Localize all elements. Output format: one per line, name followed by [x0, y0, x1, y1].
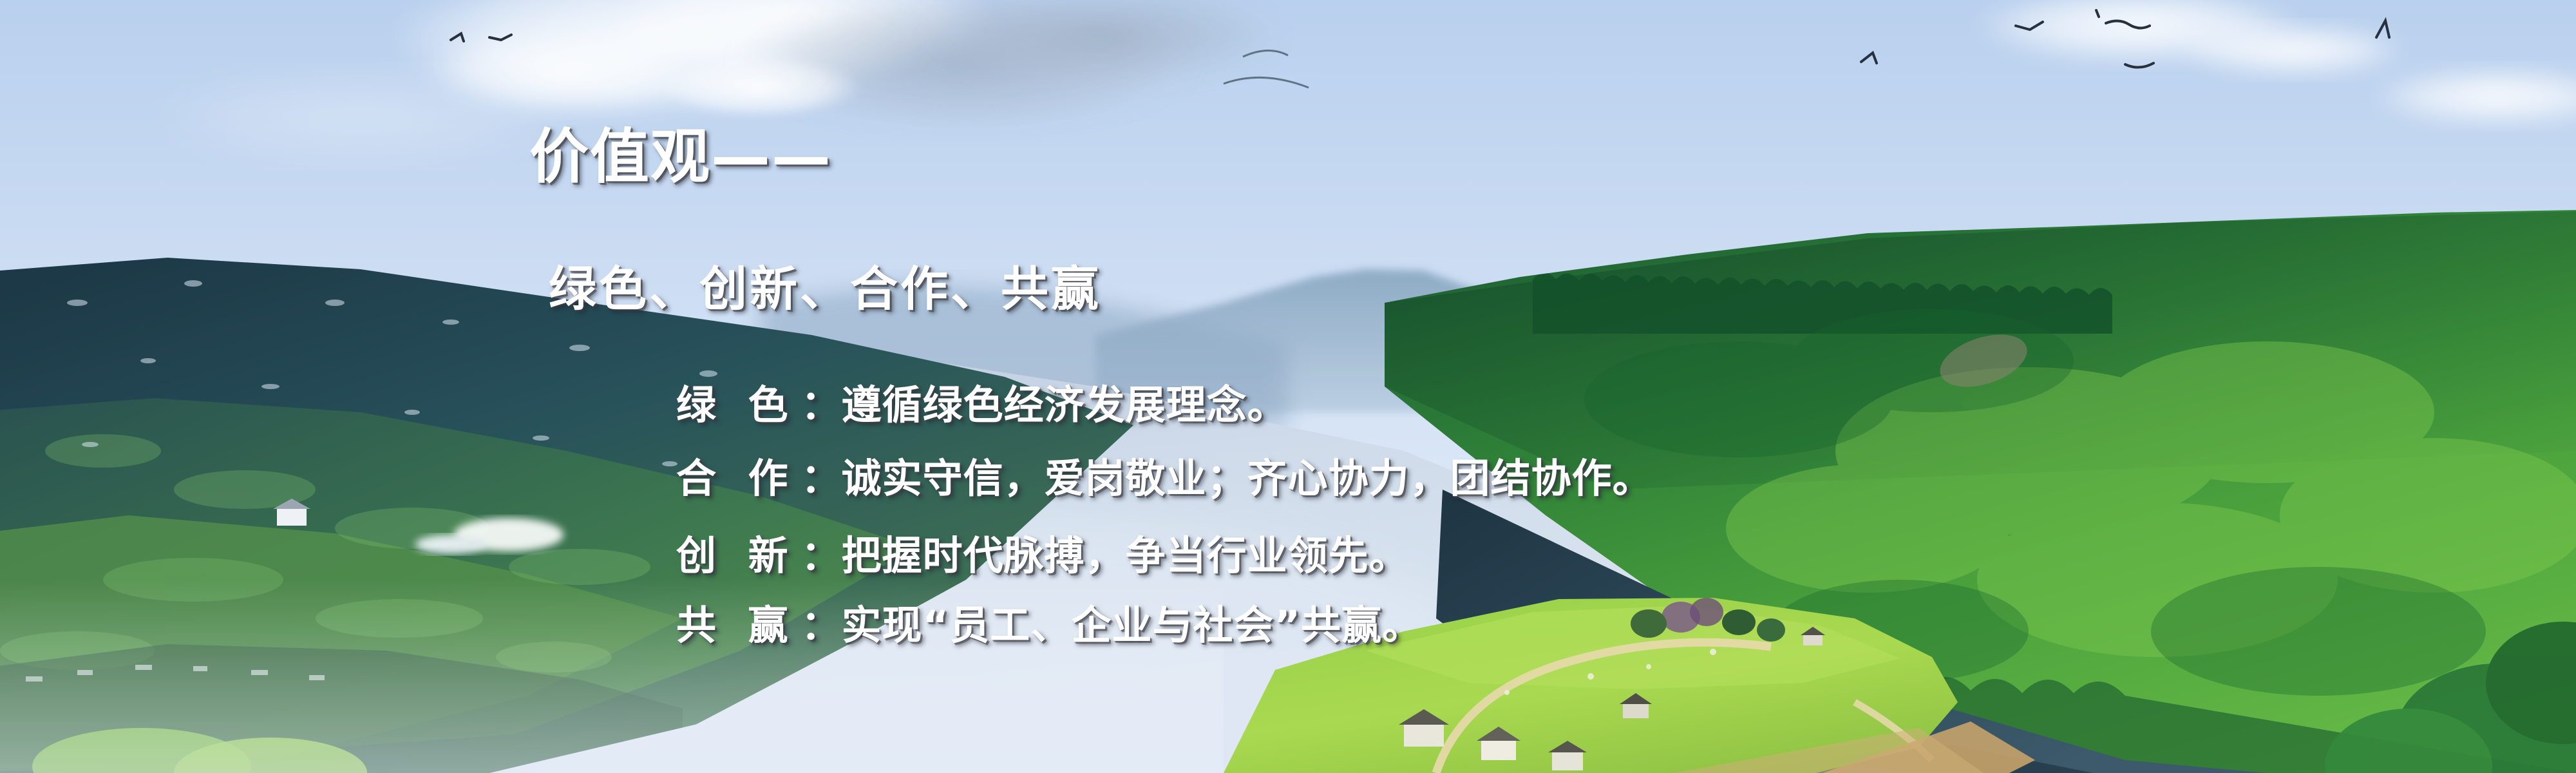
slide-canvas: 价值观—— 绿色、创新、合作、共赢 绿 色：遵循绿色经济发展理念。 合 作：诚实… — [0, 0, 2576, 773]
background-landscape-image — [0, 0, 2576, 773]
